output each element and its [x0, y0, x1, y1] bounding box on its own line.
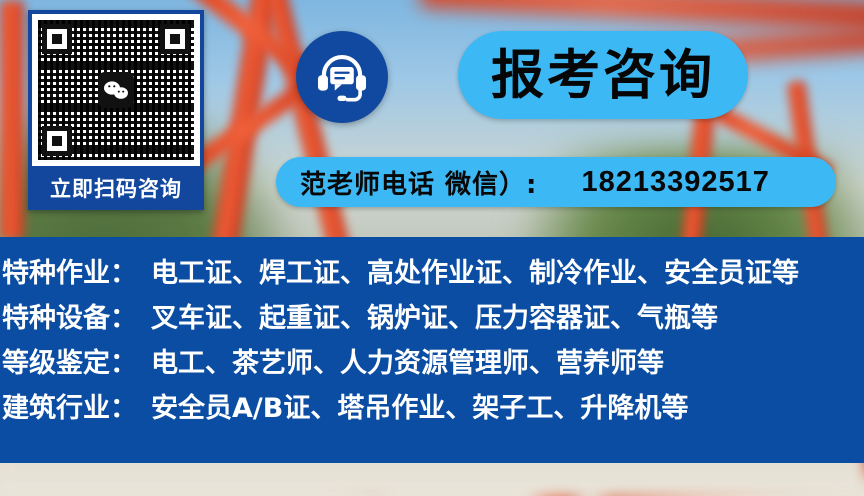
- headset-support-badge: [296, 31, 388, 123]
- headset-icon: [313, 48, 371, 106]
- contact-pill[interactable]: 范老师电话 微信）: 18213392517: [276, 157, 836, 207]
- category-items: 叉车证、起重证、锅炉证、压力容器证、气瓶等: [151, 296, 718, 335]
- qr-finder-icon: [160, 24, 190, 54]
- category-name: 特种作业：: [2, 251, 137, 290]
- contact-label: 范老师电话 微信）:: [300, 164, 537, 201]
- title-pill: 报考咨询: [458, 31, 748, 119]
- category-items: 安全员A/B证、塔吊作业、架子工、升降机等: [151, 386, 688, 425]
- qr-finder-icon: [42, 24, 72, 54]
- category-row: 特种作业： 电工证、焊工证、高处作业证、制冷作业、安全员证等: [0, 251, 864, 296]
- category-row: 等级鉴定： 电工、茶艺师、人力资源管理师、营养师等: [0, 341, 864, 386]
- category-row: 建筑行业： 安全员A/B证、塔吊作业、架子工、升降机等: [0, 386, 864, 431]
- category-row: 特种设备： 叉车证、起重证、锅炉证、压力容器证、气瓶等: [0, 296, 864, 341]
- qr-card[interactable]: 立即扫码咨询: [28, 10, 204, 210]
- crane-beam: [0, 0, 24, 240]
- promo-poster: 立即扫码咨询 报考咨询 范老师电话 微信）: 18213392517 特种作业：…: [0, 0, 864, 496]
- category-items: 电工证、焊工证、高处作业证、制冷作业、安全员证等: [151, 251, 799, 290]
- page-title: 报考咨询: [491, 49, 715, 102]
- qr-matrix: [38, 20, 194, 160]
- qr-card-label: 立即扫码咨询: [32, 166, 200, 210]
- contact-phone-number[interactable]: 18213392517: [581, 166, 769, 199]
- qr-code-image: [32, 14, 200, 166]
- category-list-panel: 特种作业： 电工证、焊工证、高处作业证、制冷作业、安全员证等 特种设备： 叉车证…: [0, 237, 864, 463]
- category-name: 特种设备：: [2, 296, 137, 335]
- wechat-logo-icon: [98, 72, 134, 108]
- qr-finder-icon: [42, 126, 72, 156]
- category-name: 建筑行业：: [2, 386, 137, 425]
- category-name: 等级鉴定：: [2, 341, 137, 380]
- category-items: 电工、茶艺师、人力资源管理师、营养师等: [151, 341, 664, 380]
